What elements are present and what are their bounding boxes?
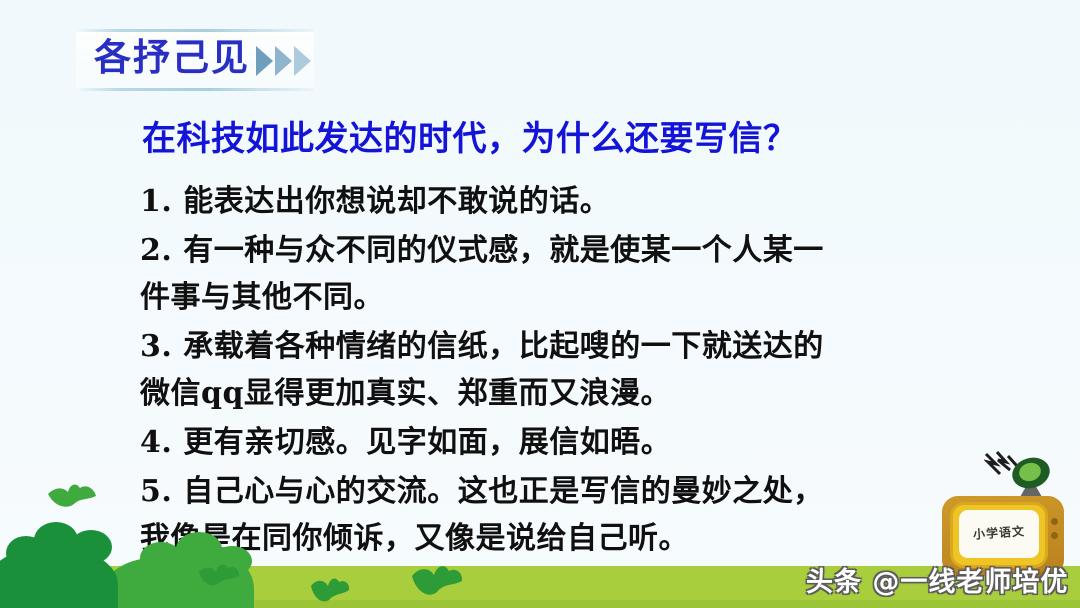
grass-tuft-icon bbox=[196, 562, 242, 590]
chevron-right-icon-group bbox=[256, 46, 328, 78]
grass-tuft-icon bbox=[408, 562, 466, 602]
list-item: 1. 能表达出你想说却不敢说的话。 bbox=[140, 178, 970, 225]
watermark-text: 头条 @一线老师培优 bbox=[806, 560, 1068, 599]
tv-knob-icon bbox=[1051, 518, 1058, 525]
header-rule-bottom bbox=[76, 88, 314, 91]
slide-canvas: 各抒己见 在科技如此发达的时代，为什么还要写信？ 1. 能表达出你想说却不敢说的… bbox=[0, 0, 1080, 608]
tv-knob-icon bbox=[1051, 532, 1058, 539]
section-title: 各抒己见 bbox=[94, 34, 250, 82]
answer-list: 1. 能表达出你想说却不敢说的话。 2. 有一种与众不同的仪式感，就是使某一个人… bbox=[140, 178, 970, 564]
list-item: 3. 承载着各种情绪的信纸，比起嗖的一下就送达的 微信qq显得更加真实、郑重而又… bbox=[140, 323, 970, 417]
question-heading: 在科技如此发达的时代，为什么还要写信？ bbox=[142, 117, 798, 161]
grass-tuft-icon bbox=[44, 482, 100, 512]
list-item: 2. 有一种与众不同的仪式感，就是使某一个人某一 件事与其他不同。 bbox=[140, 227, 970, 321]
chevron-right-icon bbox=[256, 46, 273, 76]
list-item: 5. 自己心与心的交流。这也正是写信的曼妙之处， 我像是在同你倾诉，又像是说给自… bbox=[140, 468, 970, 562]
grass-tuft-icon bbox=[308, 576, 352, 606]
list-item: 4. 更有亲切感。见字如面，展信如晤。 bbox=[140, 419, 970, 466]
chevron-right-icon bbox=[294, 46, 311, 76]
bush-icon bbox=[70, 530, 112, 564]
chevron-right-icon bbox=[275, 46, 292, 76]
